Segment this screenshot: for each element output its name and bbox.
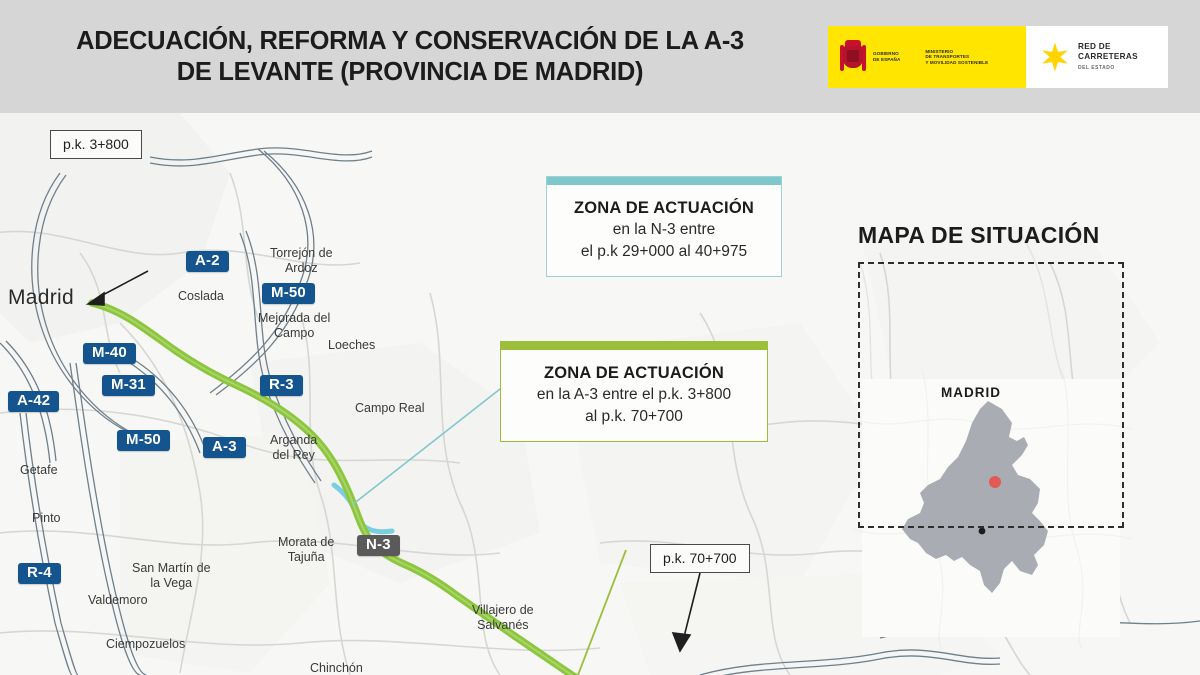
road-shield-a-42[interactable]: A-42 (8, 391, 59, 412)
place-label-campo-real: Campo Real (355, 401, 424, 416)
place-label-madrid: Madrid (8, 291, 74, 306)
callout-a3-line2: en la A-3 entre el p.k. 3+800 (515, 384, 753, 406)
red-de-carreteras-logo: RED DE CARRETERAS DEL ESTADO (1026, 26, 1168, 88)
place-label-ciempozuelos: Ciempozuelos (106, 637, 185, 652)
place-label-torrejon-de-ardoz: Torrejón deArdoz (270, 246, 333, 275)
rce-sub: DEL ESTADO (1078, 63, 1138, 73)
road-shield-m-50-north[interactable]: M-50 (262, 283, 315, 304)
gobierno-line2: DE ESPAÑA (873, 57, 900, 63)
place-label-valdemoro: Valdemoro (88, 593, 148, 608)
road-shield-n-3[interactable]: N-3 (357, 535, 400, 556)
road-shield-a-2[interactable]: A-2 (186, 251, 229, 272)
place-label-loeches: Loeches (328, 338, 375, 353)
callout-a3-line3: al p.k. 70+700 (515, 406, 753, 428)
gobierno-de-espana-logo: GOBIERNO DE ESPAÑA MINISTERIO DE TRANSPO… (828, 26, 1026, 88)
road-shield-m-31[interactable]: M-31 (102, 375, 155, 396)
header-bar: ADECUACIÓN, REFORMA Y CONSERVACIÓN DE LA… (0, 0, 1200, 113)
ministerio-line3: Y MOVILIDAD SOSTENIBLE (925, 60, 988, 66)
ministerio-logo-text: MINISTERIO DE TRANSPORTES Y MOVILIDAD SO… (925, 49, 988, 66)
leader-line-zone-a3 (578, 550, 626, 675)
road-shield-r-4[interactable]: R-4 (18, 563, 61, 584)
rce-line1: RED DE (1078, 42, 1138, 52)
callout-a3-accent-bar (501, 342, 767, 350)
callout-zone-n3: ZONA DE ACTUACIÓN en la N-3 entre el p.k… (546, 176, 782, 277)
pk-marker-3-800: p.k. 3+800 (50, 130, 142, 159)
spanish-coat-of-arms-icon (840, 40, 866, 74)
callout-n3-line3: el p.k 29+000 al 40+975 (561, 241, 767, 263)
road-shield-m-40[interactable]: M-40 (83, 343, 136, 364)
place-label-san-martin-de-la-vega: San Martín dela Vega (132, 561, 211, 590)
place-label-pinto: Pinto (32, 511, 61, 526)
callout-a3-title: ZONA DE ACTUACIÓN (515, 362, 753, 384)
main-map[interactable]: Madrid Torrejón deArdoz Coslada Mejorada… (0, 113, 1200, 675)
page-title: ADECUACIÓN, REFORMA Y CONSERVACIÓN DE LA… (40, 26, 780, 88)
callout-n3-line2: en la N-3 entre (561, 219, 767, 241)
road-shield-a-3-north[interactable]: A-3 (203, 437, 246, 458)
place-label-coslada: Coslada (178, 289, 224, 304)
infographic-root: ADECUACIÓN, REFORMA Y CONSERVACIÓN DE LA… (0, 0, 1200, 675)
rce-line2: CARRETERAS (1078, 52, 1138, 62)
callout-zone-a3: ZONA DE ACTUACIÓN en la A-3 entre el p.k… (500, 341, 768, 442)
situation-map-title: MAPA DE SITUACIÓN (858, 222, 1100, 249)
page-title-line2: DE LEVANTE (PROVINCIA DE MADRID) (40, 57, 780, 88)
madrid-city-dot (979, 528, 986, 535)
logo-group: GOBIERNO DE ESPAÑA MINISTERIO DE TRANSPO… (828, 26, 1168, 88)
place-label-morata-de-tajuna: Morata deTajuña (278, 535, 334, 564)
road-shield-r-3[interactable]: R-3 (260, 375, 303, 396)
place-label-getafe: Getafe (20, 463, 58, 478)
situation-region-label: MADRID (941, 385, 1001, 400)
pk-marker-70-700: p.k. 70+700 (650, 544, 750, 573)
place-label-arganda-del-rey: Argandadel Rey (270, 433, 317, 462)
star-icon (1040, 42, 1070, 72)
callout-n3-title: ZONA DE ACTUACIÓN (561, 197, 767, 219)
page-title-line1: ADECUACIÓN, REFORMA Y CONSERVACIÓN DE LA… (76, 27, 744, 55)
gobierno-logo-text: GOBIERNO DE ESPAÑA (873, 51, 900, 62)
place-label-villajero-de-salvanes: Villajero deSalvanés (472, 603, 534, 632)
callout-n3-accent-bar (547, 177, 781, 185)
road-shield-m-50-south[interactable]: M-50 (117, 430, 170, 451)
place-label-mejorada-del-campo: Mejorada delCampo (258, 311, 330, 340)
place-label-chinchon: Chinchón (310, 661, 363, 675)
red-carreteras-text: RED DE CARRETERAS DEL ESTADO (1078, 42, 1138, 73)
